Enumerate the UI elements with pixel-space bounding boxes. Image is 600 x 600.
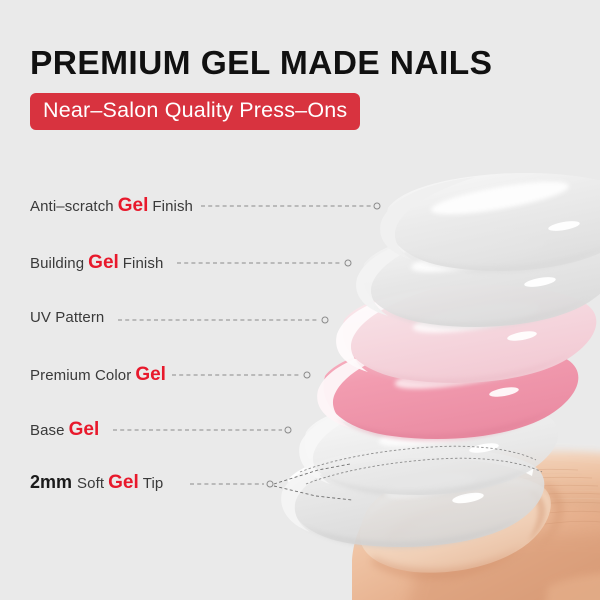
label-token: Base: [30, 422, 65, 439]
label-token: Gel: [131, 364, 170, 386]
label-token: Premium Color: [30, 367, 131, 384]
label-token: Tip: [143, 475, 164, 492]
label-token: Building: [30, 255, 84, 272]
label-token: Soft: [77, 475, 104, 492]
layer-label-list: Anti–scratchGelFinishBuildingGelFinishUV…: [0, 0, 600, 600]
label-token: Gel: [114, 195, 153, 217]
label-token: 2mm: [30, 472, 72, 493]
label-token: Gel: [104, 472, 143, 494]
layer-label-base-gel: BaseGel: [30, 419, 103, 443]
label-token: Gel: [84, 252, 123, 274]
layer-label-soft-gel-tip: 2mmSoftGelTip: [30, 472, 163, 496]
label-token: Finish: [152, 198, 193, 215]
label-token: Finish: [123, 255, 164, 272]
label-token: UV Pattern: [30, 309, 104, 326]
layer-label-premium-color-gel: Premium ColorGel: [30, 364, 170, 388]
label-token: Anti–scratch: [30, 198, 114, 215]
label-token: Gel: [65, 419, 104, 441]
layer-label-uv-pattern: UV Pattern: [30, 309, 104, 333]
layer-label-building-gel-finish: BuildingGelFinish: [30, 252, 163, 276]
layer-label-anti-scratch-gel-finish: Anti–scratchGelFinish: [30, 195, 193, 219]
